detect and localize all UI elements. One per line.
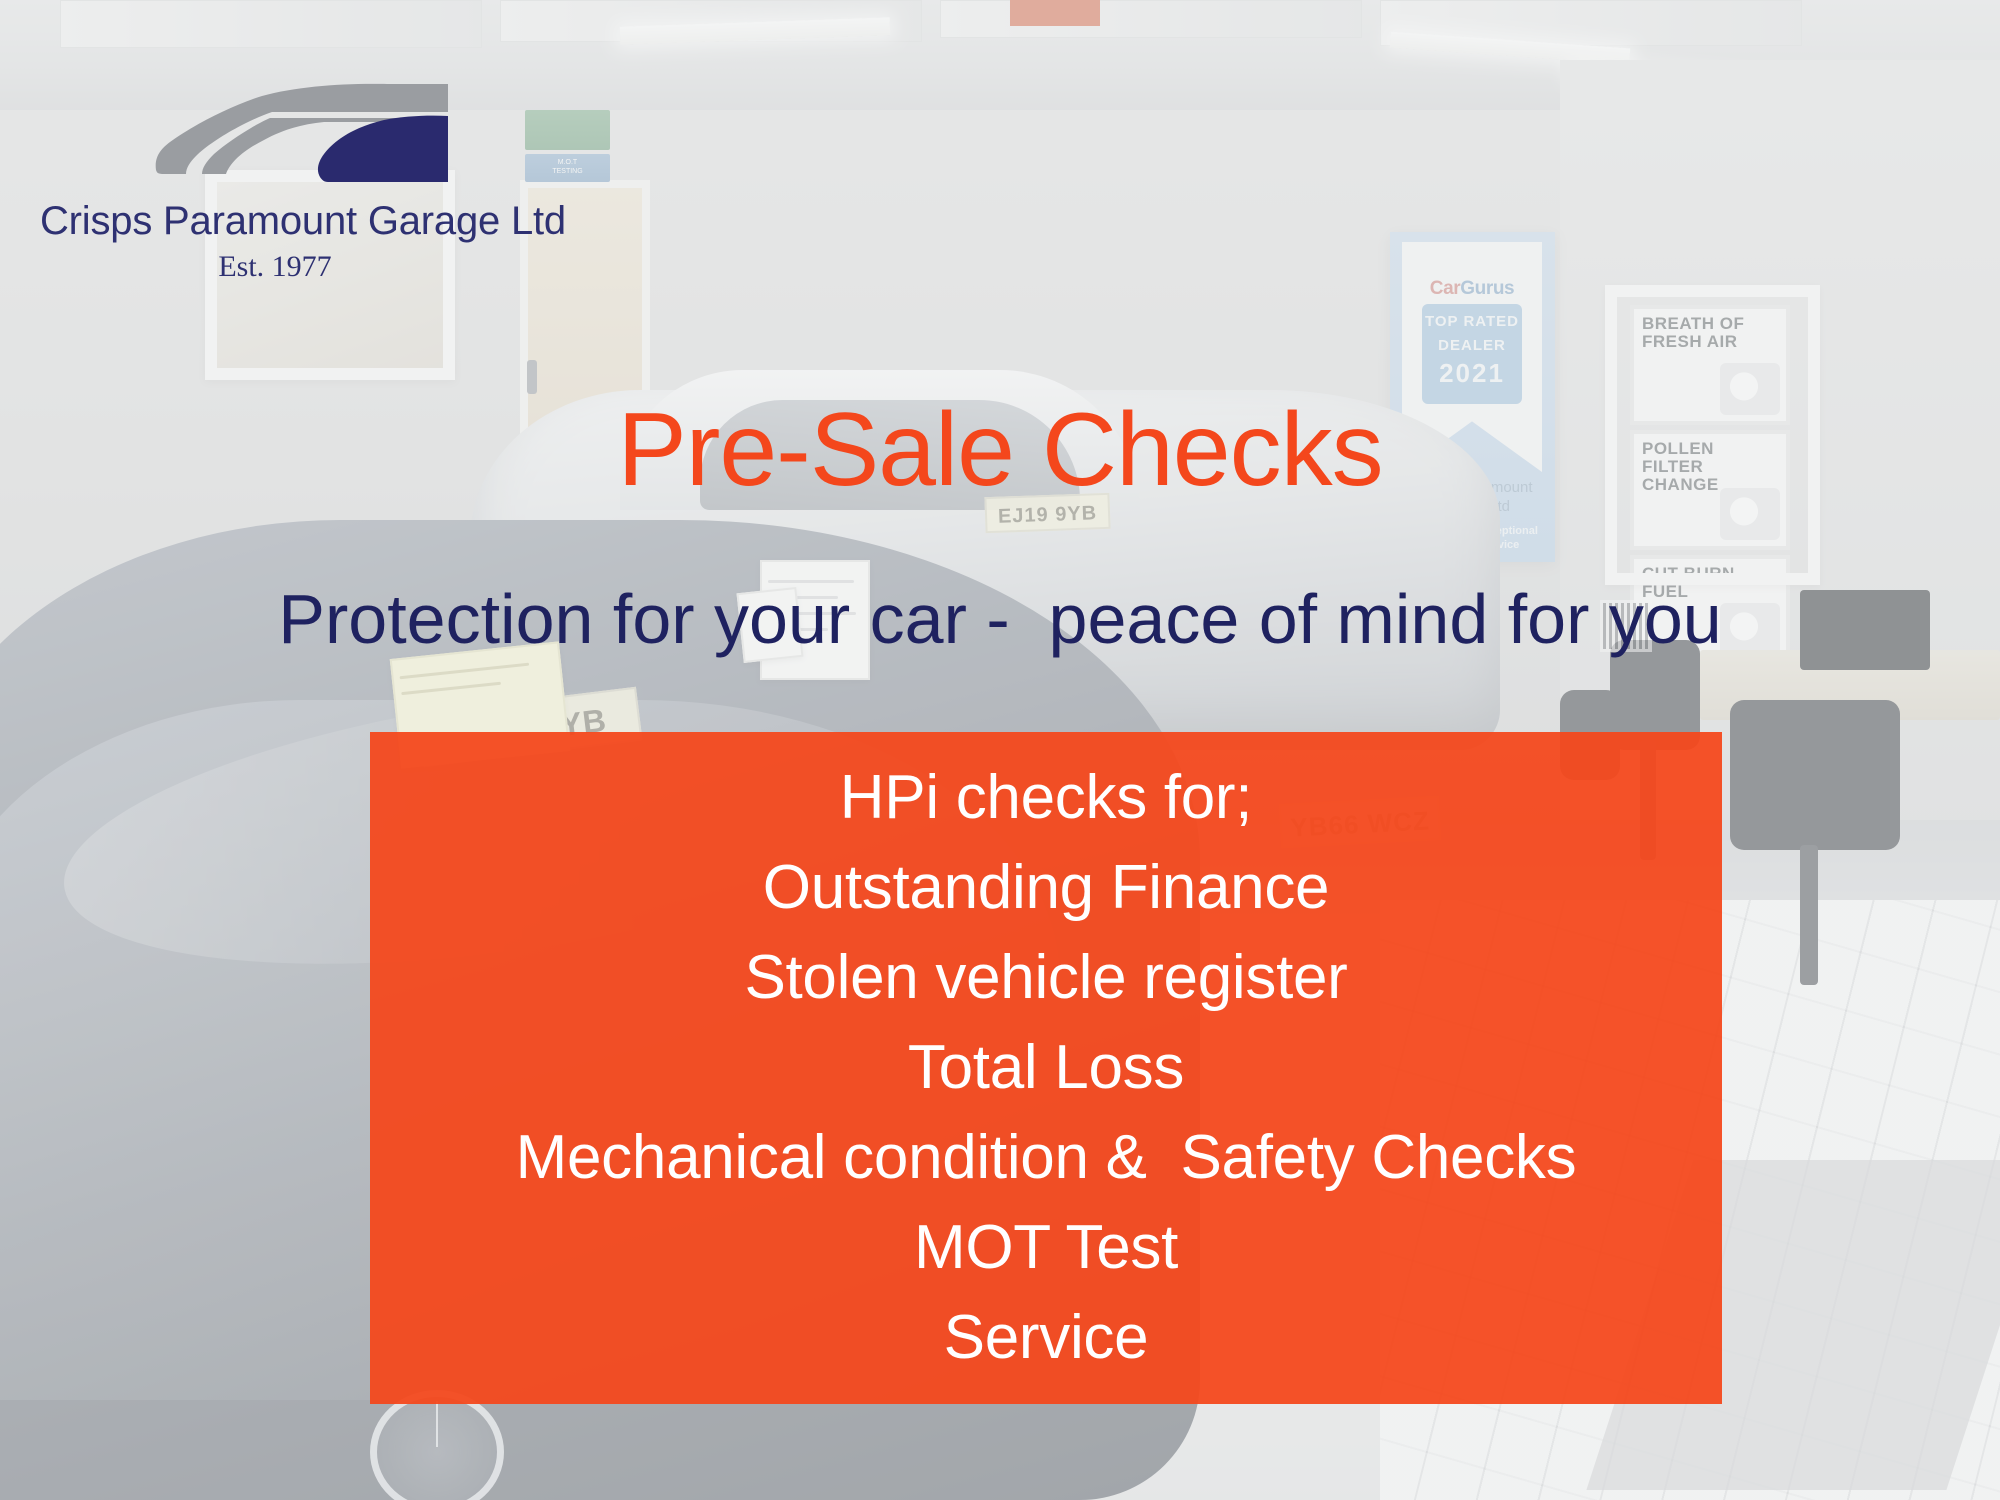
award-year: 2021 <box>1422 358 1522 388</box>
exit-sign-icon <box>525 110 610 150</box>
checks-list-item: Outstanding Finance <box>763 843 1329 933</box>
ceiling-tile <box>60 0 482 48</box>
company-name: Crisps Paramount Garage Ltd <box>40 199 510 244</box>
award-line-2: DEALER <box>1438 337 1506 354</box>
cargurus-logo: CarGurus <box>1402 278 1542 300</box>
ceiling-accent <box>1010 0 1100 26</box>
established-year: Est. 1977 <box>40 250 510 284</box>
checks-list-item: Total Loss <box>908 1023 1184 1113</box>
checks-list-item: Mechanical condition & Safety Checks <box>516 1113 1577 1203</box>
chair-leg <box>1800 845 1818 985</box>
award-badge: TOP RATED DEALER 2021 <box>1422 304 1522 404</box>
checks-list: HPi checks for; Outstanding Finance Stol… <box>370 732 1722 1404</box>
car-silhouette-icon <box>152 78 452 193</box>
slide-headline: Pre-Sale Checks <box>0 395 2000 505</box>
slide-subheadline: Protection for your car - peace of mind … <box>0 580 2000 658</box>
checks-list-item: Service <box>944 1293 1149 1383</box>
notice-sign: M.O.TTESTING <box>525 154 610 182</box>
presentation-slide: M.O.TTESTING BREATH OF FRESH AIR POLLEN … <box>0 0 2000 1500</box>
office-chair <box>1730 700 1900 850</box>
checks-list-heading: HPi checks for; <box>840 753 1252 843</box>
ceiling-tile <box>940 0 1362 38</box>
door-handle <box>527 360 537 394</box>
company-logo: Crisps Paramount Garage Ltd Est. 1977 <box>40 78 510 284</box>
checks-list-item: MOT Test <box>914 1203 1178 1293</box>
checks-list-item: Stolen vehicle register <box>744 933 1347 1023</box>
award-line-1: TOP RATED <box>1425 313 1519 330</box>
wall-signage: M.O.TTESTING <box>525 110 610 182</box>
